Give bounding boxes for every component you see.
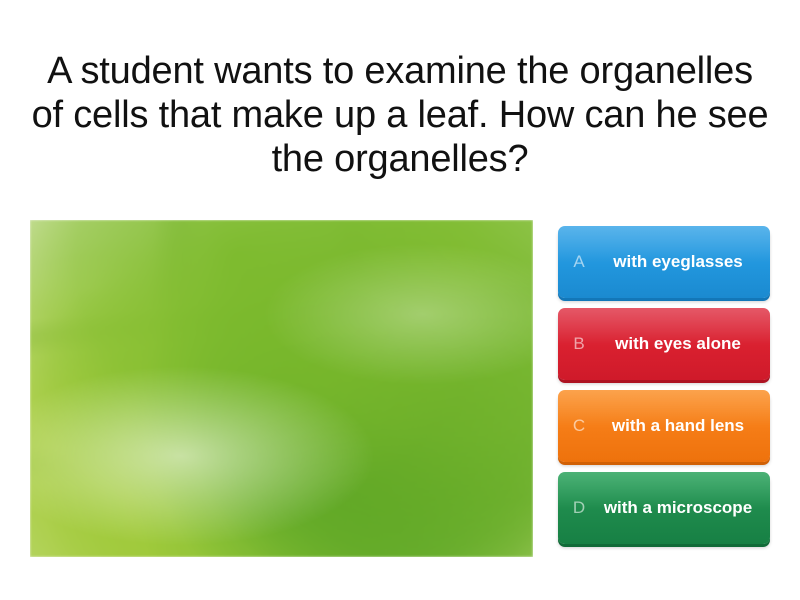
question-image bbox=[30, 220, 533, 557]
answer-option-a[interactable]: A with eyeglasses bbox=[558, 226, 770, 298]
answer-options-list: A with eyeglasses B with eyes alone C wi… bbox=[558, 226, 770, 544]
question-text: A student wants to examine the organelle… bbox=[20, 49, 780, 181]
answer-option-d-label: with a microscope bbox=[600, 498, 770, 518]
answer-option-b-label: with eyes alone bbox=[600, 334, 770, 354]
answer-option-d[interactable]: D with a microscope bbox=[558, 472, 770, 544]
answer-option-b-letter: B bbox=[558, 334, 600, 354]
answer-option-d-letter: D bbox=[558, 498, 600, 518]
answer-option-a-letter: A bbox=[558, 252, 600, 272]
answer-option-c-label: with a hand lens bbox=[600, 416, 770, 436]
answer-option-a-label: with eyeglasses bbox=[600, 252, 770, 272]
plant-cell-micrograph-icon bbox=[30, 220, 533, 557]
answer-option-c[interactable]: C with a hand lens bbox=[558, 390, 770, 462]
answer-option-c-letter: C bbox=[558, 416, 600, 436]
answer-option-b[interactable]: B with eyes alone bbox=[558, 308, 770, 380]
question-area: A student wants to examine the organelle… bbox=[0, 30, 800, 200]
